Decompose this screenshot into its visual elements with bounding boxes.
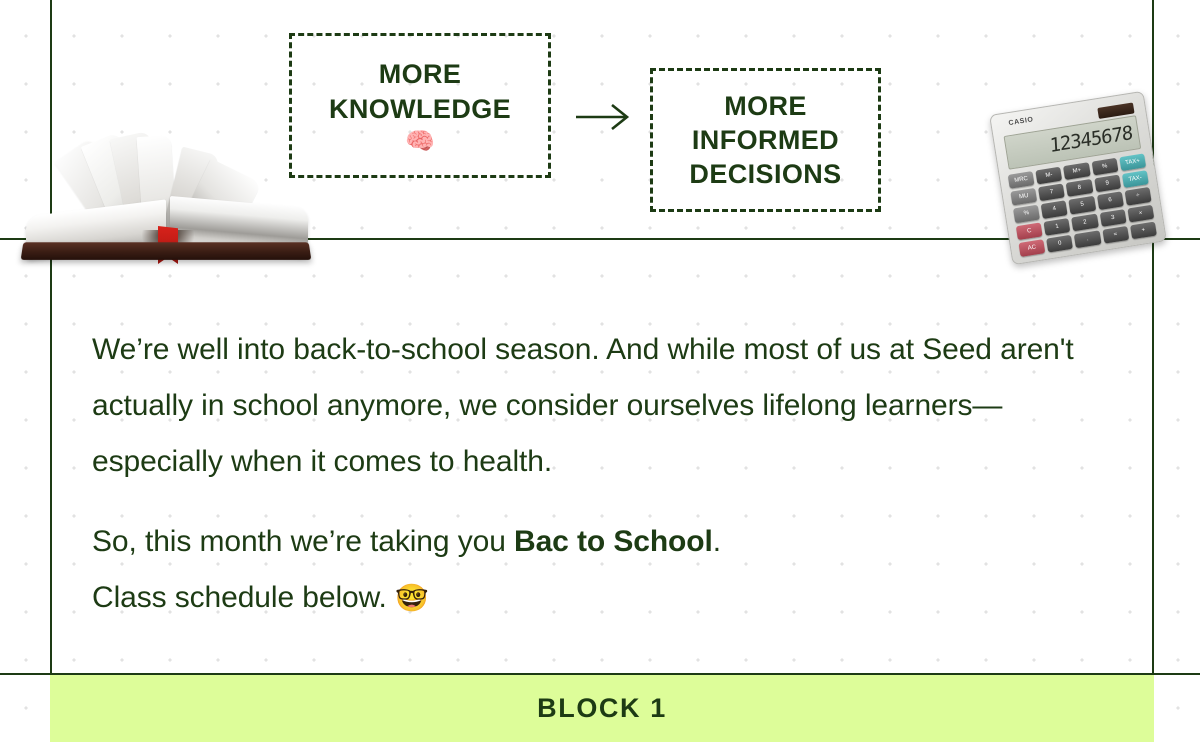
calculator-key: 3	[1099, 209, 1126, 227]
concept-box-more-knowledge: MORE KNOWLEDGE 🧠	[289, 33, 551, 178]
calculator-key: 4	[1041, 201, 1068, 219]
nerd-face-emoji: 🤓	[395, 583, 429, 613]
calculator-key: ÷	[1124, 187, 1151, 205]
calculator-key: M-	[1035, 167, 1062, 185]
calculator-display-value: 12345678	[1050, 122, 1134, 157]
block-banner-label: BLOCK 1	[537, 693, 667, 724]
calculator-key: 5	[1069, 196, 1096, 214]
concept-box-more-knowledge-label: MORE KNOWLEDGE	[329, 57, 511, 125]
paragraph-theme-lead: So, this month we’re taking you	[92, 525, 514, 558]
calculator-key: 7	[1038, 184, 1065, 202]
brain-emoji: 🧠	[405, 130, 435, 154]
book-cover	[21, 242, 312, 260]
newsletter-canvas: CASIO 12345678 MRC M- M+ % TAX+ MU 7 8 9…	[0, 0, 1200, 742]
calculator-key: MRC	[1008, 171, 1035, 189]
block-banner: BLOCK 1	[50, 675, 1154, 742]
paragraph-theme-tail: .	[713, 525, 721, 558]
calculator-key: 6	[1097, 192, 1124, 210]
calculator-key: 1	[1044, 218, 1071, 236]
calculator-key: %	[1013, 205, 1040, 223]
calculator-image: CASIO 12345678 MRC M- M+ % TAX+ MU 7 8 9…	[989, 91, 1167, 266]
hero-illustration-band: CASIO 12345678 MRC M- M+ % TAX+ MU 7 8 9…	[0, 0, 1200, 275]
body-copy: We’re well into back-to-school season. A…	[92, 322, 1112, 626]
concept-box-more-informed-decisions: MORE INFORMED DECISIONS	[650, 68, 881, 212]
calculator-key: %	[1091, 158, 1118, 176]
right-arrow-icon	[576, 104, 632, 130]
calculator-key: 9	[1094, 175, 1121, 193]
paragraph-schedule: Class schedule below.	[92, 581, 395, 614]
calculator-key: TAX+	[1119, 153, 1146, 171]
paragraph-intro: We’re well into back-to-school season. A…	[92, 322, 1112, 490]
open-book-image	[20, 134, 312, 274]
paragraph-theme: So, this month we’re taking you Bac to S…	[92, 514, 1112, 626]
calculator-key: TAX-	[1122, 170, 1149, 188]
paragraph-theme-emphasis: Bac to School	[514, 525, 713, 558]
calculator-key: MU	[1010, 188, 1037, 206]
calculator-key: 2	[1071, 213, 1098, 231]
calculator-key: ×	[1127, 204, 1154, 222]
calculator-key: M+	[1063, 162, 1090, 180]
concept-box-more-informed-decisions-label: MORE INFORMED DECISIONS	[689, 89, 841, 191]
calculator-key: C	[1016, 222, 1043, 240]
calculator-key: 8	[1066, 179, 1093, 197]
